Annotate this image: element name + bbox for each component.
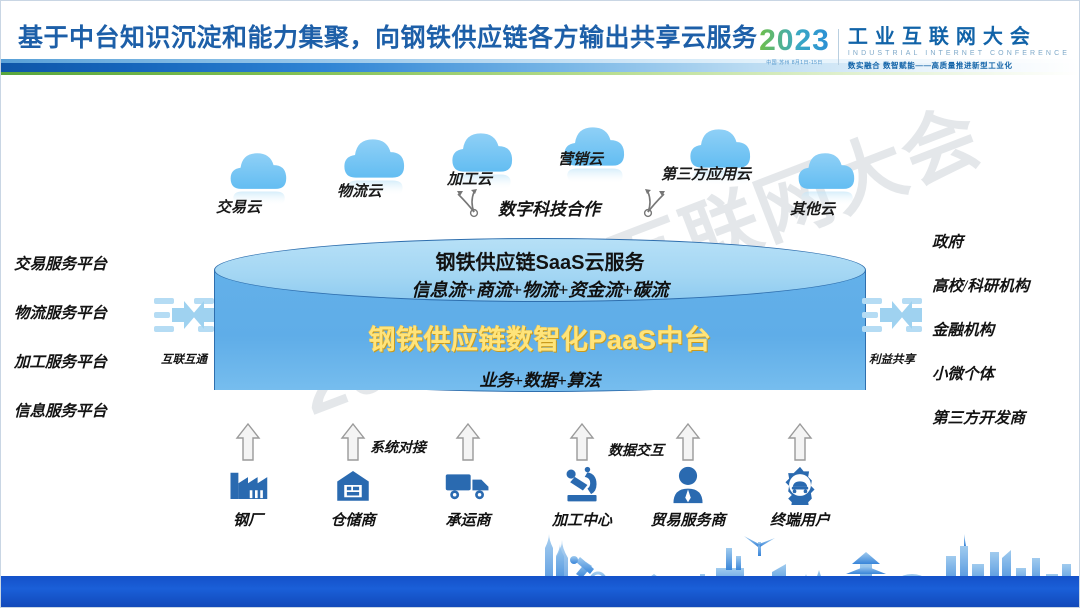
truck-icon	[444, 465, 492, 505]
system-docking-label: 系统对接	[370, 437, 426, 457]
factory-icon	[227, 465, 269, 505]
actor-1[interactable]: 钢厂	[200, 420, 296, 530]
factory-icon-wrap	[200, 462, 296, 508]
slide-canvas: 基于中台知识沉淀和能力集聚，向钢铁供应链各方输出共享云服务 2023 中国·苏州…	[0, 0, 1080, 608]
actor-label-6: 终端用户	[752, 509, 848, 530]
gear-car-icon-wrap	[752, 462, 848, 508]
digital-tech-label: 数字科技合作	[498, 195, 600, 220]
data-exchange-label: 数据交互	[608, 440, 664, 460]
logo-year-block: 2023 中国·苏州 8月1日-15日	[759, 26, 839, 66]
logo-name-en: INDUSTRIAL INTERNET CONFERENCE	[848, 50, 1070, 57]
actor-label-3: 承运商	[420, 509, 516, 530]
conference-logo: 2023 中国·苏州 8月1日-15日 工业互联网大会 INDUSTRIAL I…	[759, 26, 1070, 71]
actor-label-2: 仓储商	[305, 509, 401, 530]
logo-name-cn: 工业互联网大会	[848, 26, 1070, 48]
logo-date-location: 中国·苏州 8月1日-15日	[759, 59, 830, 66]
actor-4[interactable]: 加工中心	[534, 420, 630, 530]
warehouse-icon-wrap	[305, 462, 401, 508]
actor-arrow-6	[752, 420, 848, 462]
slide-header: 基于中台知识沉淀和能力集聚，向钢铁供应链各方输出共享云服务 2023 中国·苏州…	[0, 0, 1080, 86]
up-arrow-icon	[340, 422, 366, 462]
actor-label-5: 贸易服务商	[640, 509, 736, 530]
robot-arm-icon	[560, 465, 604, 505]
logo-name-block: 工业互联网大会 INDUSTRIAL INTERNET CONFERENCE 数…	[848, 26, 1070, 71]
robot-arm-icon-wrap	[534, 462, 630, 508]
up-arrow-icon	[675, 422, 701, 462]
up-arrow-icon	[569, 422, 595, 462]
actor-arrow-3	[420, 420, 516, 462]
up-arrow-icon	[455, 422, 481, 462]
connector-arrow-right-icon	[628, 186, 668, 220]
logo-year: 2023	[759, 26, 830, 56]
actor-arrow-1	[200, 420, 296, 462]
page-title: 基于中台知识沉淀和能力集聚，向钢铁供应链各方输出共享云服务	[18, 18, 758, 54]
person-icon	[668, 465, 708, 505]
actor-6[interactable]: 终端用户	[752, 420, 848, 530]
warehouse-icon	[332, 465, 374, 505]
up-arrow-icon	[235, 422, 261, 462]
logo-slogan: 数实融合 数智赋能——高质量推进新型工业化	[848, 60, 1070, 71]
actor-group: 钢厂仓储商承运商加工中心贸易服务商终端用户	[0, 0, 1080, 608]
header-divider-green	[0, 72, 1080, 75]
up-arrow-icon	[787, 422, 813, 462]
actor-5[interactable]: 贸易服务商	[640, 420, 736, 530]
person-icon-wrap	[640, 462, 736, 508]
truck-icon-wrap	[420, 462, 516, 508]
actor-3[interactable]: 承运商	[420, 420, 516, 530]
connector-arrow-left-icon	[454, 186, 494, 220]
actor-label-1: 钢厂	[200, 509, 296, 530]
actor-label-4: 加工中心	[534, 509, 630, 530]
gear-car-icon	[779, 465, 821, 505]
